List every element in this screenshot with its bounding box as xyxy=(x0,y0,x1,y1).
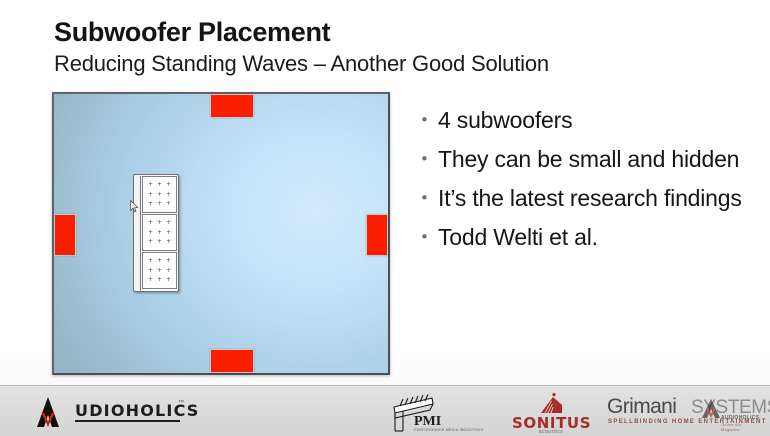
tuft-mark: + xyxy=(148,258,153,264)
watermark-tagline: Online A/V Magazine xyxy=(721,422,757,432)
bullet-marker-icon: • xyxy=(420,181,438,215)
audioholics-underline xyxy=(75,420,180,422)
bullet-text: 4 subwoofers xyxy=(438,103,765,137)
tuft-mark: + xyxy=(148,220,153,226)
tuft-mark: + xyxy=(148,277,153,283)
sofa-seating: + + + + + + + + + + + xyxy=(133,174,179,292)
grimani-watermark-icon: AUDIOHOLICS Online A/V Magazine xyxy=(699,398,757,432)
bullet-marker-icon: • xyxy=(420,220,438,254)
tuft-mark: + xyxy=(157,182,162,188)
watermark-wordmark: AUDIOHOLICS xyxy=(721,415,759,421)
tuft-mark: + xyxy=(157,220,162,226)
tuft-mark: + xyxy=(157,239,162,245)
tuft-mark: + xyxy=(166,277,171,283)
audioholics-chevron-icon xyxy=(28,396,72,430)
cushion-tuft-row: + + + xyxy=(144,230,175,236)
bullet-item: • 4 subwoofers xyxy=(420,103,765,137)
tuft-mark: + xyxy=(166,201,171,207)
tuft-mark: + xyxy=(166,230,171,236)
tuft-mark: + xyxy=(148,268,153,274)
sonitus-tagline: acoustics xyxy=(512,429,590,435)
bullet-text: They can be small and hidden xyxy=(438,142,765,176)
pmi-tagline: PERFORMANCE MEDIA INDUSTRIES xyxy=(414,428,484,432)
page-subtitle: Reducing Standing Waves – Another Good S… xyxy=(54,52,754,76)
logo-sonitus[interactable]: SONITUS acoustics xyxy=(512,392,590,436)
cushion-tuft-row: + + + xyxy=(144,192,175,198)
presentation-slide: Subwoofer Placement Reducing Standing Wa… xyxy=(0,0,770,436)
cushion-tuft-row: + + + xyxy=(144,277,175,283)
bullet-text: Todd Welti et al. xyxy=(438,220,765,254)
tuft-mark: + xyxy=(148,201,153,207)
tuft-mark: + xyxy=(157,201,162,207)
footer-logo-bar: UDIOHOLICS ™ xyxy=(0,385,770,436)
bullet-item: • It’s the latest research findings xyxy=(420,181,765,215)
cushion-tuft-row: + + + xyxy=(144,239,175,245)
tuft-mark: + xyxy=(166,258,171,264)
tuft-mark: + xyxy=(157,277,162,283)
sofa-arm-left xyxy=(135,176,141,291)
subwoofer-right-wall xyxy=(366,214,388,256)
tuft-mark: + xyxy=(166,182,171,188)
subwoofer-bottom-wall xyxy=(210,349,254,373)
room-floor xyxy=(52,92,390,375)
cushion-tuft-row: + + + xyxy=(144,182,175,188)
tuft-mark: + xyxy=(166,192,171,198)
page-title: Subwoofer Placement xyxy=(54,18,754,46)
sofa-cushion: + + + + + + + + + xyxy=(142,252,177,289)
tuft-mark: + xyxy=(148,192,153,198)
tuft-mark: + xyxy=(148,182,153,188)
logo-pmi[interactable]: PMI PERFORMANCE MEDIA INDUSTRIES xyxy=(392,394,450,434)
tuft-mark: + xyxy=(148,230,153,236)
tuft-mark: + xyxy=(166,239,171,245)
title-block: Subwoofer Placement Reducing Standing Wa… xyxy=(54,18,754,77)
tuft-mark: + xyxy=(166,220,171,226)
cushion-tuft-row: + + + xyxy=(144,201,175,207)
tuft-mark: + xyxy=(166,268,171,274)
tuft-mark: + xyxy=(157,230,162,236)
grimani-wordmark: Grimani xyxy=(607,395,676,419)
bullet-marker-icon: • xyxy=(420,142,438,176)
audioholics-trademark: ™ xyxy=(178,400,184,406)
cushion-tuft-row: + + + xyxy=(144,258,175,264)
logo-audioholics[interactable]: UDIOHOLICS ™ xyxy=(28,396,188,430)
sonitus-harp-icon xyxy=(512,392,590,416)
tuft-mark: + xyxy=(157,258,162,264)
tuft-mark: + xyxy=(148,239,153,245)
bullet-marker-icon: • xyxy=(420,103,438,137)
sofa-cushion: + + + + + + + + + xyxy=(142,214,177,251)
bullet-text: It’s the latest research findings xyxy=(438,181,765,215)
subwoofer-left-wall xyxy=(54,214,76,256)
subwoofer-top-wall xyxy=(210,94,254,118)
bullet-item: • They can be small and hidden xyxy=(420,142,765,176)
tuft-mark: + xyxy=(157,192,162,198)
sofa-cushion: + + + + + + + + + xyxy=(142,176,177,213)
cushion-tuft-row: + + + xyxy=(144,268,175,274)
room-floor-plan-diagram: + + + + + + + + + + + xyxy=(52,92,390,375)
cushion-tuft-row: + + + xyxy=(144,220,175,226)
logo-grimani-systems[interactable]: Grimani SYSTEMS SPELLBINDING HOME ENTERT… xyxy=(607,394,757,432)
bullet-list: • 4 subwoofers • They can be small and h… xyxy=(420,103,765,259)
tuft-mark: + xyxy=(157,268,162,274)
bullet-item: • Todd Welti et al. xyxy=(420,220,765,254)
